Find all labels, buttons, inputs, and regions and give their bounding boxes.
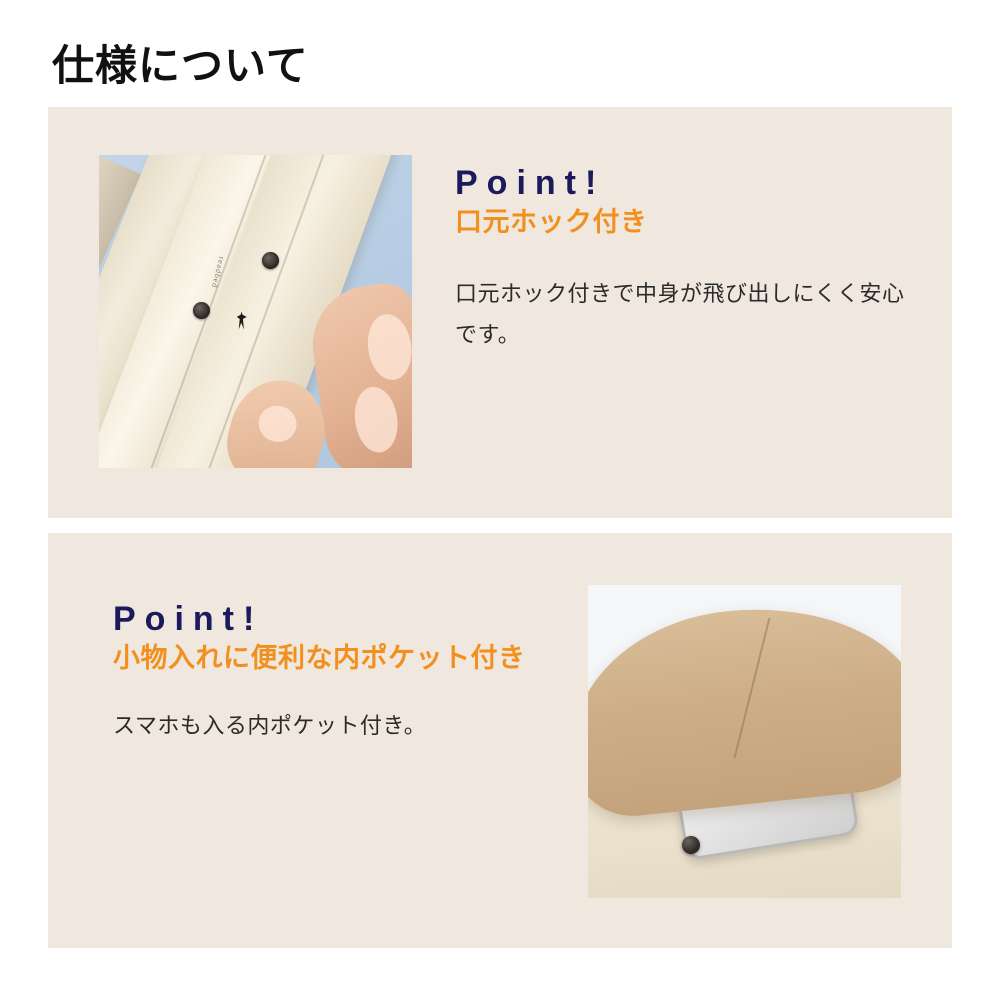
spec-section-1: readbed Point! 口元ホック付き	[48, 107, 952, 518]
product-photo-hook: readbed	[99, 155, 412, 468]
page-title: 仕様について	[52, 32, 309, 93]
point-label: Point!	[455, 165, 915, 202]
snap-hook-icon	[193, 302, 210, 319]
point-description: 口元ホック付きで中身が飛び出しにくく安心です。	[455, 274, 915, 355]
fingernail	[351, 384, 402, 455]
spec-section-2: Point! 小物入れに便利な内ポケット付き スマホも入る内ポケット付き。	[48, 533, 952, 948]
point-subtitle: 小物入れに便利な内ポケット付き	[113, 642, 583, 676]
product-spec-page: 仕様について readbed	[0, 0, 1000, 1000]
point-description: スマホも入る内ポケット付き。	[113, 706, 583, 747]
spec-text-block-2: Point! 小物入れに便利な内ポケット付き スマホも入る内ポケット付き。	[113, 601, 583, 747]
point-subtitle: 口元ホック付き	[455, 206, 915, 240]
fingernail	[364, 312, 412, 383]
photo-scene-hook: readbed	[99, 155, 412, 468]
fingernail	[255, 401, 301, 446]
snap-hook-icon	[262, 252, 279, 269]
photo-scene-pocket	[588, 585, 901, 898]
point-label: Point!	[113, 601, 583, 638]
spec-text-block-1: Point! 口元ホック付き 口元ホック付きで中身が飛び出しにくく安心です。	[455, 165, 915, 356]
product-photo-inner-pocket	[588, 585, 901, 898]
snap-hook-icon	[682, 836, 700, 854]
